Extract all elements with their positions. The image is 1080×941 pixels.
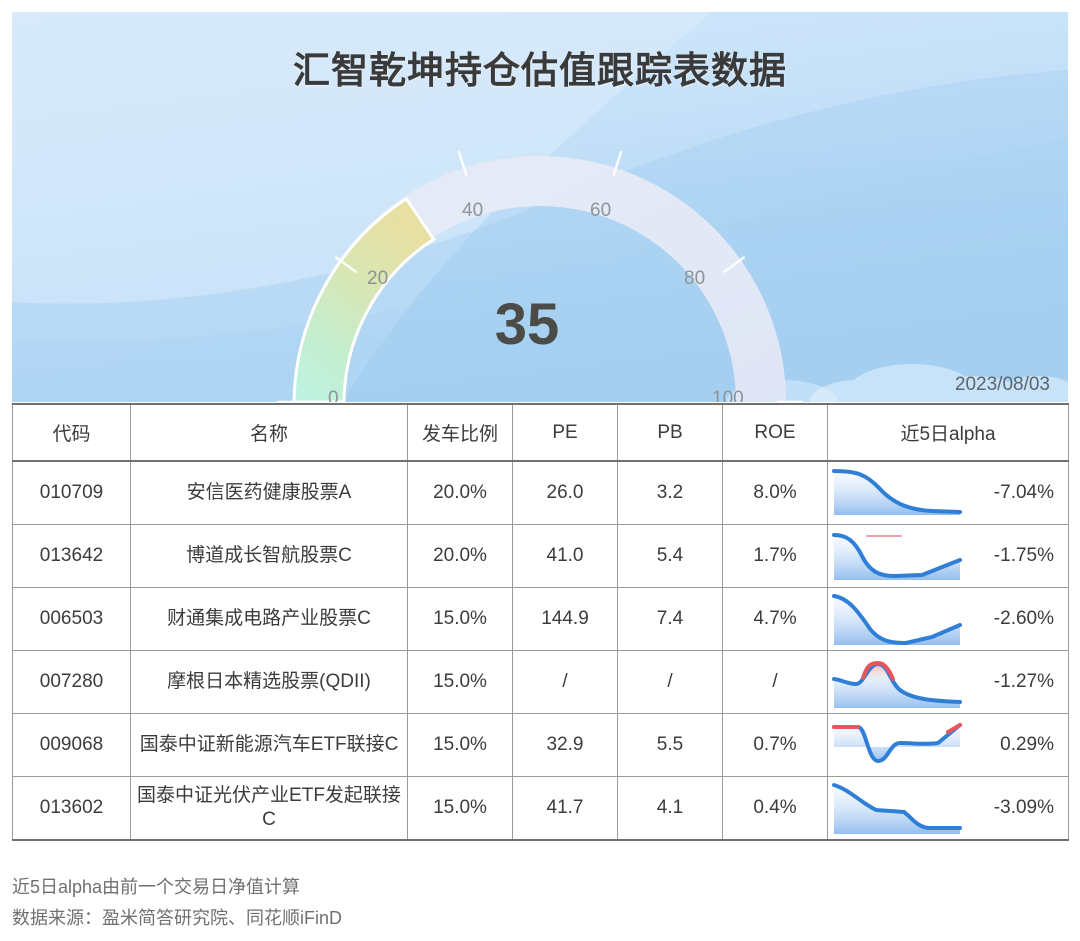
cell-code: 006503 xyxy=(13,588,131,651)
dashboard-root: 汇智乾坤持仓估值跟踪表数据 35 0 20 40 60 80 100 2023/… xyxy=(0,0,1080,941)
gauge-tick-label-80: 80 xyxy=(684,268,705,290)
cell-pb: 5.4 xyxy=(618,525,723,588)
gauge-panel: 汇智乾坤持仓估值跟踪表数据 35 0 20 40 60 80 100 2023/… xyxy=(12,12,1068,402)
table-header-row: 代码 名称 发车比例 PE PB ROE 近5日alpha xyxy=(13,404,1069,461)
table-row: 010709 安信医药健康股票A 20.0% 26.0 3.2 8.0% xyxy=(13,461,1069,525)
cell-name: 博道成长智航股票C xyxy=(131,525,408,588)
cell-ratio: 15.0% xyxy=(408,777,513,841)
cell-roe: 8.0% xyxy=(723,461,828,525)
cell-pb: 4.1 xyxy=(618,777,723,841)
cell-code: 013642 xyxy=(13,525,131,588)
gauge-tick-label-40: 40 xyxy=(462,200,483,222)
cell-roe: 4.7% xyxy=(723,588,828,651)
column-header-ratio: 发车比例 xyxy=(408,404,513,461)
gauge-value: 35 xyxy=(12,296,1055,354)
table-row: 009068 国泰中证新能源汽车ETF联接C 15.0% 32.9 5.5 0.… xyxy=(13,714,1069,777)
cell-pe: 32.9 xyxy=(513,714,618,777)
cell-pe: 26.0 xyxy=(513,461,618,525)
cell-alpha: -3.09% xyxy=(828,777,1069,841)
cell-ratio: 15.0% xyxy=(408,588,513,651)
sparkline-chart xyxy=(832,654,977,710)
table-row: 007280 摩根日本精选股票(QDII) 15.0% / / / xyxy=(13,651,1069,714)
report-date: 2023/08/03 xyxy=(955,374,1050,396)
cell-alpha: 0.29% xyxy=(828,714,1069,777)
gauge-tick-label-100: 100 xyxy=(712,388,744,402)
cell-pe: 41.0 xyxy=(513,525,618,588)
alpha-value: -3.09% xyxy=(977,797,1064,819)
fund-table: 代码 名称 发车比例 PE PB ROE 近5日alpha 010709 安信医… xyxy=(12,403,1069,841)
sparkline-chart xyxy=(832,465,977,521)
cell-roe: 0.7% xyxy=(723,714,828,777)
column-header-alpha: 近5日alpha xyxy=(828,404,1069,461)
cell-roe: 0.4% xyxy=(723,777,828,841)
alpha-value: -1.27% xyxy=(977,671,1064,693)
cell-name: 国泰中证新能源汽车ETF联接C xyxy=(131,714,408,777)
alpha-value: -2.60% xyxy=(977,608,1064,630)
cell-code: 010709 xyxy=(13,461,131,525)
cell-ratio: 15.0% xyxy=(408,651,513,714)
sparkline-chart xyxy=(832,528,977,584)
gauge-tick-label-60: 60 xyxy=(590,200,611,222)
footer-source: 数据来源：盈米简答研究院、同花顺iFinD xyxy=(12,904,1068,933)
cell-roe: 1.7% xyxy=(723,525,828,588)
cell-name: 摩根日本精选股票(QDII) xyxy=(131,651,408,714)
column-header-pb: PB xyxy=(618,404,723,461)
sparkline-chart xyxy=(832,717,977,773)
gauge-tick-label-0: 0 xyxy=(328,388,339,402)
cell-pe: / xyxy=(513,651,618,714)
cell-pe: 41.7 xyxy=(513,777,618,841)
column-header-pe: PE xyxy=(513,404,618,461)
cell-ratio: 15.0% xyxy=(408,714,513,777)
table-row: 013602 国泰中证光伏产业ETF发起联接C 15.0% 41.7 4.1 0… xyxy=(13,777,1069,841)
cell-alpha: -1.27% xyxy=(828,651,1069,714)
cell-ratio: 20.0% xyxy=(408,461,513,525)
cell-ratio: 20.0% xyxy=(408,525,513,588)
cell-alpha: -2.60% xyxy=(828,588,1069,651)
cell-pe: 144.9 xyxy=(513,588,618,651)
column-header-code: 代码 xyxy=(13,404,131,461)
footer-note: 近5日alpha由前一个交易日净值计算 xyxy=(12,873,1068,902)
cell-code: 013602 xyxy=(13,777,131,841)
cell-name: 安信医药健康股票A xyxy=(131,461,408,525)
cell-pb: 5.5 xyxy=(618,714,723,777)
column-header-name: 名称 xyxy=(131,404,408,461)
cell-pb: 7.4 xyxy=(618,588,723,651)
alpha-value: 0.29% xyxy=(977,734,1064,756)
cell-pb: 3.2 xyxy=(618,461,723,525)
alpha-value: -7.04% xyxy=(977,482,1064,504)
cell-code: 009068 xyxy=(13,714,131,777)
sparkline-chart xyxy=(832,591,977,647)
cell-name: 财通集成电路产业股票C xyxy=(131,588,408,651)
table-row: 006503 财通集成电路产业股票C 15.0% 144.9 7.4 4.7% xyxy=(13,588,1069,651)
cell-alpha: -7.04% xyxy=(828,461,1069,525)
cell-pb: / xyxy=(618,651,723,714)
cell-name: 国泰中证光伏产业ETF发起联接C xyxy=(131,777,408,841)
cell-roe: / xyxy=(723,651,828,714)
sparkline-chart xyxy=(832,780,977,836)
table-row: 013642 博道成长智航股票C 20.0% 41.0 5.4 1.7% xyxy=(13,525,1069,588)
fund-table-container: 代码 名称 发车比例 PE PB ROE 近5日alpha 010709 安信医… xyxy=(12,403,1068,841)
page-title: 汇智乾坤持仓估值跟踪表数据 xyxy=(12,40,1068,94)
alpha-value: -1.75% xyxy=(977,545,1064,567)
table-body: 010709 安信医药健康股票A 20.0% 26.0 3.2 8.0% xyxy=(13,461,1069,840)
gauge-tick-label-20: 20 xyxy=(367,268,388,290)
cell-code: 007280 xyxy=(13,651,131,714)
column-header-roe: ROE xyxy=(723,404,828,461)
cell-alpha: -1.75% xyxy=(828,525,1069,588)
footer: 近5日alpha由前一个交易日净值计算 数据来源：盈米简答研究院、同花顺iFin… xyxy=(12,873,1068,935)
